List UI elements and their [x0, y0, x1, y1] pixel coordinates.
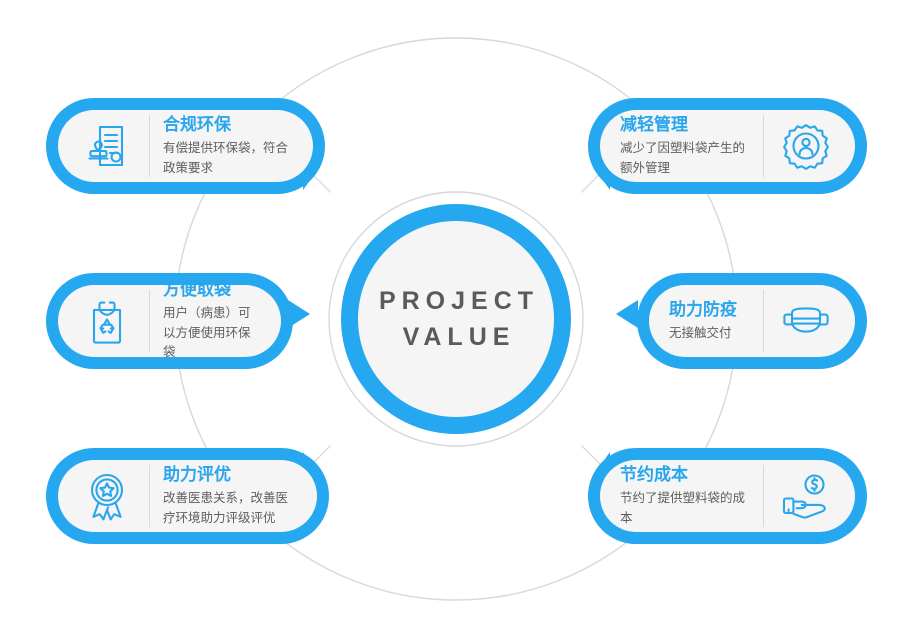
card-compliance-desc: 有偿提供环保袋，符合政策要求 [163, 139, 293, 178]
card-compliance-text: 合规环保 有偿提供环保袋，符合政策要求 [163, 114, 293, 178]
hand-money-icon [777, 473, 835, 519]
card-management-inner: 减轻管理 减少了因塑料袋产生的额外管理 [600, 110, 855, 182]
card-management-title: 减轻管理 [620, 114, 750, 136]
card-rating-text: 助力评优 改善医患关系，改善医疗环境助力评级评优 [163, 464, 297, 528]
card-compliance-title: 合规环保 [163, 114, 293, 136]
card-rating-title: 助力评优 [163, 464, 297, 486]
card-tail-epidemic [616, 300, 638, 328]
card-divider [149, 465, 150, 527]
card-cost-inner: 节约成本 节约了提供塑料袋的成本 [600, 460, 855, 532]
card-divider [149, 290, 150, 352]
card-epidemic-title: 助力防疫 [669, 299, 750, 321]
card-convenience-text: 方便取袋 用户（病患）可以方便使用环保袋 [163, 279, 261, 362]
card-epidemic-text: 助力防疫 无接触交付 [669, 299, 750, 343]
card-management-desc: 减少了因塑料袋产生的额外管理 [620, 139, 750, 178]
card-compliance[interactable]: 合规环保 有偿提供环保袋，符合政策要求 [46, 98, 325, 194]
document-stamp-icon [78, 122, 136, 170]
card-management-text: 减轻管理 减少了因塑料袋产生的额外管理 [620, 114, 750, 178]
center-title-line1: PROJECT [373, 283, 539, 319]
card-divider [149, 115, 150, 177]
infographic-canvas: PROJECT VALUE 合规环保 有偿提供环保袋，符合政策要求 [0, 0, 913, 634]
card-convenience-desc: 用户（病患）可以方便使用环保袋 [163, 304, 261, 362]
card-epidemic-inner: 助力防疫 无接触交付 [649, 285, 855, 357]
card-cost[interactable]: 节约成本 节约了提供塑料袋的成本 [588, 448, 867, 544]
center-title-line2: VALUE [397, 319, 516, 355]
card-cost-desc: 节约了提供塑料袋的成本 [620, 489, 750, 528]
card-compliance-inner: 合规环保 有偿提供环保袋，符合政策要求 [58, 110, 313, 182]
recycle-bag-icon [78, 297, 136, 345]
gear-person-icon [777, 122, 835, 170]
card-rating[interactable]: 助力评优 改善医患关系，改善医疗环境助力评级评优 [46, 448, 329, 544]
card-cost-title: 节约成本 [620, 464, 750, 486]
card-divider [763, 115, 764, 177]
center-hub-inner: PROJECT VALUE [358, 221, 554, 417]
card-divider [763, 290, 764, 352]
card-epidemic[interactable]: 助力防疫 无接触交付 [637, 273, 867, 369]
card-convenience-title: 方便取袋 [163, 279, 261, 301]
card-convenience[interactable]: 方便取袋 用户（病患）可以方便使用环保袋 [46, 273, 293, 369]
card-management[interactable]: 减轻管理 减少了因塑料袋产生的额外管理 [588, 98, 867, 194]
card-rating-inner: 助力评优 改善医患关系，改善医疗环境助力评级评优 [58, 460, 317, 532]
center-hub: PROJECT VALUE [341, 204, 571, 434]
card-convenience-inner: 方便取袋 用户（病患）可以方便使用环保袋 [58, 285, 281, 357]
card-divider [763, 465, 764, 527]
card-epidemic-desc: 无接触交付 [669, 324, 750, 343]
award-medal-icon [78, 471, 136, 521]
card-rating-desc: 改善医患关系，改善医疗环境助力评级评优 [163, 489, 297, 528]
face-mask-icon [777, 301, 835, 341]
card-cost-text: 节约成本 节约了提供塑料袋的成本 [620, 464, 750, 528]
